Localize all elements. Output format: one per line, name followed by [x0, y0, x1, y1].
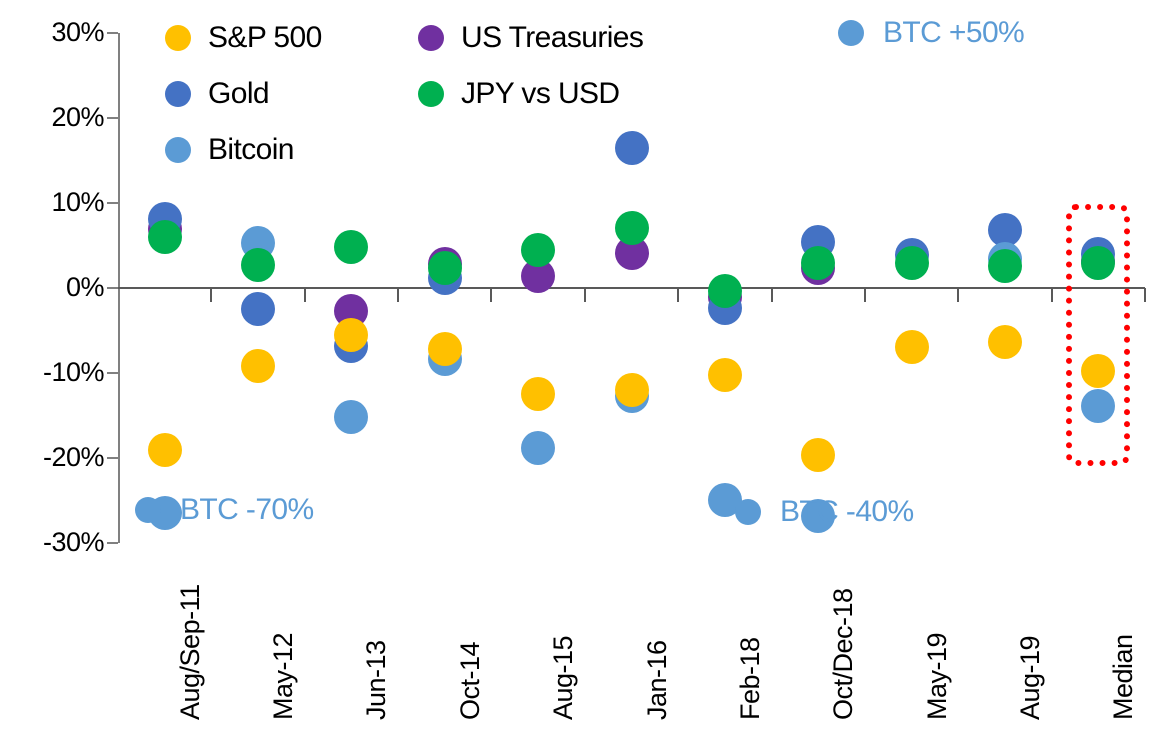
- data-point: [615, 373, 649, 407]
- x-axis-label: Jan-16: [644, 640, 671, 720]
- data-point: [615, 131, 649, 165]
- legend-label: Gold: [208, 79, 269, 109]
- legend-item[interactable]: JPY vs USD: [418, 79, 620, 109]
- data-point: [521, 431, 555, 465]
- data-point: [801, 438, 835, 472]
- y-axis-tick: [107, 542, 118, 544]
- x-axis-tick: [210, 288, 212, 302]
- data-point: [334, 400, 368, 434]
- x-axis-tick: [771, 288, 773, 302]
- y-axis-tick: [107, 202, 118, 204]
- btc-minus-40-annotation: BTC -40%: [735, 497, 914, 527]
- data-point: [895, 330, 929, 364]
- data-point: [428, 251, 462, 285]
- x-axis-label: Aug-15: [550, 636, 577, 720]
- annotation-label: BTC -70%: [180, 495, 314, 525]
- data-point: [428, 332, 462, 366]
- legend-item[interactable]: S&P 500: [165, 23, 322, 53]
- x-axis-label: Feb-18: [737, 637, 764, 720]
- x-axis-label: Aug/Sep-11: [177, 584, 204, 720]
- legend-label: JPY vs USD: [461, 79, 620, 109]
- legend-dot-icon: [418, 25, 444, 51]
- data-point: [988, 325, 1022, 359]
- data-point: [334, 230, 368, 264]
- data-point: [708, 274, 742, 308]
- data-point: [615, 211, 649, 245]
- btc-minus-70-annotation: BTC -70%: [135, 495, 314, 525]
- y-axis-label: 10%: [51, 189, 104, 216]
- legend-item[interactable]: US Treasuries: [418, 23, 643, 53]
- legend-dot-icon: [165, 25, 191, 51]
- x-axis-tick: [957, 288, 959, 302]
- scatter-chart: 30%20%10%0%-10%-20%-30%Aug/Sep-11May-12J…: [0, 0, 1151, 739]
- x-axis-label: Oct/Dec-18: [830, 588, 857, 720]
- zero-axis-line: [118, 287, 1145, 289]
- annotation-label: BTC +50%: [883, 18, 1024, 48]
- bitcoin-dot-icon: [735, 499, 761, 525]
- y-axis-tick: [107, 287, 118, 289]
- x-axis-tick: [397, 288, 399, 302]
- legend-label: Bitcoin: [208, 135, 294, 165]
- x-axis-label: May-12: [270, 633, 297, 720]
- bitcoin-dot-icon: [135, 497, 161, 523]
- data-point: [241, 292, 275, 326]
- data-point: [895, 246, 929, 280]
- x-axis-tick: [304, 288, 306, 302]
- y-axis-tick: [107, 117, 118, 119]
- y-axis-tick: [107, 32, 118, 34]
- data-point: [801, 246, 835, 280]
- y-axis-label: 0%: [66, 274, 104, 301]
- legend-dot-icon: [165, 137, 191, 163]
- data-point: [521, 377, 555, 411]
- x-axis-label: Jun-13: [363, 640, 390, 720]
- x-axis-label: Oct-14: [457, 642, 484, 720]
- x-axis-tick: [584, 288, 586, 302]
- y-axis-tick: [107, 372, 118, 374]
- legend-label: S&P 500: [208, 23, 322, 53]
- y-axis-label: -30%: [43, 529, 104, 556]
- bitcoin-dot-icon: [838, 20, 864, 46]
- data-point: [521, 233, 555, 267]
- y-axis-label: 30%: [51, 19, 104, 46]
- data-point: [708, 358, 742, 392]
- y-axis-label: -20%: [43, 444, 104, 471]
- data-point: [334, 318, 368, 352]
- data-point: [148, 220, 182, 254]
- data-point: [241, 349, 275, 383]
- btc-plus-50-annotation: BTC +50%: [838, 18, 1024, 48]
- legend-item[interactable]: Gold: [165, 79, 269, 109]
- x-axis-label: May-19: [924, 633, 951, 720]
- x-axis-tick: [490, 288, 492, 302]
- y-axis-label: 20%: [51, 104, 104, 131]
- data-point: [148, 433, 182, 467]
- legend-dot-icon: [165, 81, 191, 107]
- x-axis-tick: [1051, 288, 1053, 302]
- y-axis-tick: [107, 457, 118, 459]
- legend-dot-icon: [418, 81, 444, 107]
- x-axis-tick: [864, 288, 866, 302]
- x-axis-label: Aug-19: [1017, 636, 1044, 720]
- data-point: [241, 248, 275, 282]
- legend-label: US Treasuries: [461, 23, 643, 53]
- x-axis-label: Median: [1110, 634, 1137, 720]
- legend-item[interactable]: Bitcoin: [165, 135, 294, 165]
- annotation-label: BTC -40%: [780, 497, 914, 527]
- y-axis-label: -10%: [43, 359, 104, 386]
- x-axis-tick: [677, 288, 679, 302]
- x-axis-tick: [1144, 288, 1146, 302]
- data-point: [988, 249, 1022, 283]
